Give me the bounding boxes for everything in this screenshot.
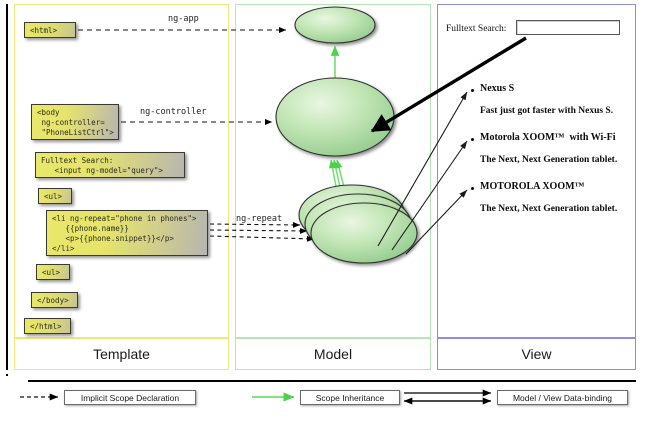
- view-panel-body: [437, 4, 636, 338]
- fulltext-search-input[interactable]: [516, 20, 620, 35]
- legend-item-implicit-scope-declaration: Implicit Scope Declaration: [64, 390, 196, 405]
- relation-label-ng-app: ng-app: [168, 14, 199, 24]
- view-item-name: MOTOROLA XOOM™: [480, 181, 585, 192]
- view-item-snippet: Fast just got faster with Nexus S.: [480, 106, 613, 116]
- code-box-body-close-tag: </body>: [31, 292, 78, 308]
- template-panel-label: Template: [14, 338, 229, 370]
- legend-item-scope-inheritance: Scope Inheritance: [300, 390, 400, 405]
- code-box-fulltext-search-input: Fulltext Search: <input ng-model="query"…: [35, 152, 185, 178]
- code-box-ul-close-tag: <ul>: [36, 264, 70, 280]
- repeater-scope-title: Repeater Scope: [325, 217, 405, 239]
- code-box-body-ng-controller: <body ng-controller= "PhoneListCtrl">: [31, 104, 119, 140]
- code-box-li-ng-repeat: <li ng-repeat="phone in phones"> {{phone…: [46, 210, 208, 256]
- repeater-scope-prop-phone: phone: Object: [320, 250, 410, 260]
- list-bullet: [471, 187, 474, 190]
- outer-frame-left-rule: [6, 4, 8, 370]
- view-item-name: Motorola XOOM™ with Wi-Fi: [480, 132, 616, 143]
- relation-label-ng-controller: ng-controller: [140, 107, 207, 117]
- diagram-canvas: Template Model View <html> <body ng-cont…: [0, 0, 645, 425]
- legend-divider: [28, 380, 636, 382]
- legend-item-model-view-data-binding: Model / View Data-binding: [497, 390, 628, 405]
- code-box-ul-open-tag: <ul>: [38, 188, 72, 204]
- phonelistctrl-scope-prop-query: query: String: [285, 124, 385, 134]
- view-item-snippet: The Next, Next Generation tablet.: [480, 155, 617, 165]
- model-panel-label: Model: [235, 338, 431, 370]
- code-box-html-close-tag: </html>: [24, 318, 71, 334]
- outer-frame-corner-dot: [6, 374, 8, 376]
- list-bullet: [471, 89, 474, 92]
- list-bullet: [471, 138, 474, 141]
- view-item-name: Nexus S: [480, 83, 514, 94]
- model-panel-body: [235, 4, 431, 338]
- phonelistctrl-scope-title: PhoneListCtrl Scope: [285, 92, 385, 114]
- view-item-snippet: The Next, Next Generation tablet.: [480, 204, 617, 214]
- view-search-label: Fulltext Search:: [446, 24, 506, 34]
- view-panel-label: View: [437, 338, 636, 370]
- relation-label-ng-repeat: ng-repeat: [236, 214, 282, 224]
- legend-arrow-double: [404, 393, 491, 401]
- phonelistctrl-scope-prop-phones: phones: Array: [285, 134, 385, 144]
- root-scope-title: Root Scope: [295, 14, 375, 36]
- code-box-html-open-tag: <html>: [24, 22, 76, 38]
